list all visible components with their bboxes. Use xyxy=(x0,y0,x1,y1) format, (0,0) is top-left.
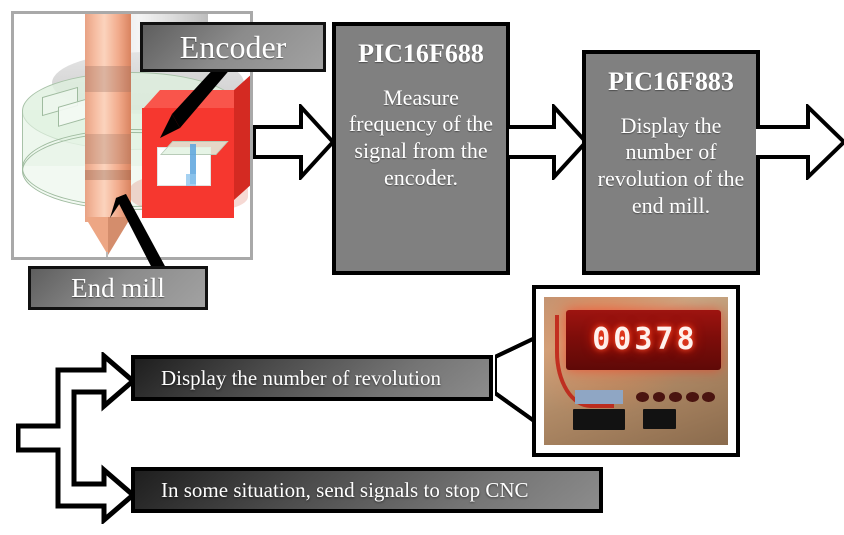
output-box-display-revolution-text: Display the number of revolution xyxy=(161,366,441,391)
label-encoder: Encoder xyxy=(140,22,326,72)
output-box-stop-cnc-text: In some situation, send signals to stop … xyxy=(161,478,529,503)
pcb-component-5 xyxy=(702,392,715,402)
arrow-right-icon-1 xyxy=(253,104,335,180)
end-mill-shaft xyxy=(85,11,131,222)
pcb-chip-right xyxy=(643,409,676,428)
block-body-pic16f883: Display the number of revolution of the … xyxy=(586,113,756,220)
block-title-pic16f688: PIC16F688 xyxy=(358,40,484,69)
photo-callout: 0 0 3 7 8 xyxy=(495,285,740,457)
seg-digit-4: 7 xyxy=(655,325,673,355)
block-title-pic16f883: PIC16F883 xyxy=(608,68,734,97)
encoder-beam-lower xyxy=(186,174,196,186)
end-mill-band-2 xyxy=(85,134,131,164)
end-mill-band-1 xyxy=(85,66,131,92)
pcb-component-2 xyxy=(653,392,666,402)
seven-segment-display: 0 0 3 7 8 xyxy=(566,310,721,369)
label-encoder-text: Encoder xyxy=(180,29,287,66)
pcb-board: 0 0 3 7 8 xyxy=(544,297,728,445)
pcb-component-3 xyxy=(669,392,682,402)
pcb-photo-frame: 0 0 3 7 8 xyxy=(532,285,740,457)
block-body-pic16f688: Measure frequency of the signal from the… xyxy=(336,85,506,192)
arrow-right-icon-3 xyxy=(756,104,844,180)
seg-digit-1: 0 xyxy=(592,325,610,355)
label-end-mill: End mill xyxy=(28,266,208,310)
end-mill-band-3 xyxy=(85,170,131,180)
output-box-display-revolution: Display the number of revolution xyxy=(131,355,493,401)
pcb-chip-left xyxy=(573,409,625,430)
seg-digit-3: 3 xyxy=(634,325,652,355)
process-block-pic16f883: PIC16F883 Display the number of revoluti… xyxy=(582,50,760,275)
seg-digit-2: 0 xyxy=(613,325,631,355)
seg-digit-5: 8 xyxy=(676,325,694,355)
label-end-mill-text: End mill xyxy=(71,273,165,304)
pcb-pin-header xyxy=(575,390,623,403)
arrow-right-icon-2 xyxy=(506,104,588,180)
output-box-stop-cnc: In some situation, send signals to stop … xyxy=(131,467,603,513)
split-arrow-icon xyxy=(16,352,136,524)
process-block-pic16f688: PIC16F688 Measure frequency of the signa… xyxy=(332,22,510,275)
pcb-component-1 xyxy=(636,392,649,402)
pcb-component-4 xyxy=(686,392,699,402)
